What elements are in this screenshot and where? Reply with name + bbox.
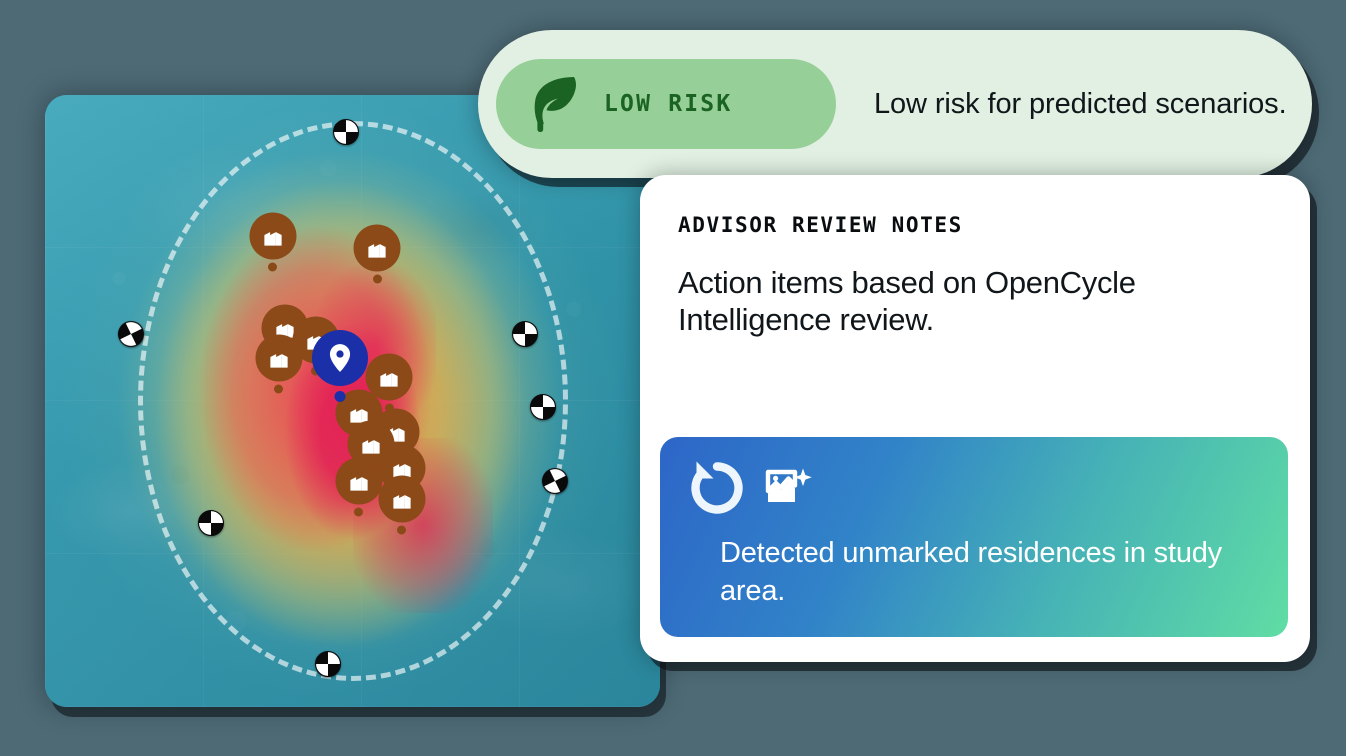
checker-marker-icon[interactable] [315, 651, 341, 677]
checker-marker-icon[interactable] [512, 321, 538, 347]
checker-marker-icon[interactable] [538, 463, 573, 498]
advisor-card-title: ADVISOR REVIEW NOTES [678, 213, 1282, 237]
building-icon[interactable] [249, 212, 296, 259]
risk-description: Low risk for predicted scenarios. [874, 85, 1287, 124]
building-marker[interactable] [335, 457, 382, 504]
checker-marker-icon[interactable] [530, 394, 556, 420]
checker-marker-icon[interactable] [198, 510, 224, 536]
marker-anchor-dot [373, 275, 382, 284]
survey-point-marker[interactable] [118, 321, 144, 347]
refresh-icon[interactable] [686, 457, 748, 519]
image-sparkle-icon[interactable] [764, 464, 812, 512]
checker-marker-icon[interactable] [333, 119, 359, 145]
leaf-icon [528, 74, 582, 134]
marker-anchor-dot [274, 385, 283, 394]
building-marker[interactable] [354, 225, 401, 272]
building-marker[interactable] [378, 475, 425, 522]
detection-banner[interactable]: Detected unmarked residences in study ar… [660, 437, 1288, 637]
advisor-card-body: Action items based on OpenCycle Intellig… [678, 265, 1188, 339]
building-marker[interactable] [249, 212, 296, 259]
current-location-marker[interactable] [312, 330, 368, 386]
survey-point-marker[interactable] [542, 468, 568, 494]
checker-marker-icon[interactable] [114, 316, 149, 351]
marker-anchor-dot [397, 525, 406, 534]
marker-anchor-dot [335, 391, 346, 402]
map-panel[interactable] [45, 95, 660, 707]
advisor-review-card: ADVISOR REVIEW NOTES Action items based … [640, 175, 1310, 662]
risk-status-badge[interactable]: LOW RISK [496, 59, 836, 149]
survey-point-marker[interactable] [512, 321, 538, 347]
risk-badge-label: LOW RISK [604, 91, 732, 117]
survey-point-marker[interactable] [333, 119, 359, 145]
marker-anchor-dot [354, 507, 363, 516]
detection-banner-icons [686, 457, 1264, 519]
survey-point-marker[interactable] [315, 651, 341, 677]
survey-point-marker[interactable] [198, 510, 224, 536]
building-icon[interactable] [378, 475, 425, 522]
marker-anchor-dot [268, 262, 277, 271]
detection-banner-text: Detected unmarked residences in study ar… [720, 535, 1264, 610]
map-pin-icon[interactable] [312, 330, 368, 386]
building-icon[interactable] [354, 225, 401, 272]
building-icon[interactable] [255, 335, 302, 382]
building-marker[interactable] [255, 335, 302, 382]
low-risk-card: LOW RISK Low risk for predicted scenario… [478, 30, 1312, 178]
survey-point-marker[interactable] [530, 394, 556, 420]
building-icon[interactable] [335, 457, 382, 504]
